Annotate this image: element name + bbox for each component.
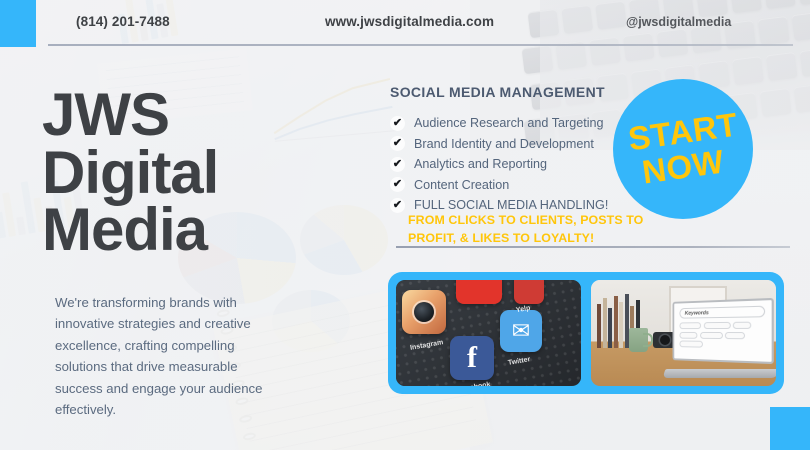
brand-title: JWS Digital Media [42, 86, 342, 259]
check-icon: ✔ [390, 177, 405, 192]
list-item: ✔ Analytics and Reporting [390, 154, 620, 175]
phone-number[interactable]: (814) 201-7488 [76, 14, 170, 29]
keyword-chips [679, 321, 765, 348]
laptop-base [663, 369, 776, 378]
check-icon: ✔ [390, 116, 405, 131]
header: (814) 201-7488 www.jwsdigitalmedia.com @… [0, 0, 810, 52]
corner-accent-bottom-right [770, 407, 810, 450]
list-item: ✔ Content Creation [390, 175, 620, 196]
youtube-icon [456, 280, 502, 304]
tagline: FROM CLICKS TO CLIENTS, POSTS TO PROFIT,… [408, 212, 658, 247]
yelp-icon [514, 280, 544, 304]
service-label: Brand Identity and Development [414, 137, 594, 151]
laptop-screen: Keywords [673, 298, 774, 364]
brand-line-1: JWS [42, 86, 342, 144]
brand-line-2: Digital [42, 144, 342, 202]
social-handle[interactable]: @jwsdigitalmedia [626, 15, 731, 29]
check-icon: ✔ [390, 136, 405, 151]
check-icon: ✔ [390, 157, 405, 172]
service-label: Content Creation [414, 178, 509, 192]
instagram-icon [402, 290, 446, 334]
flyer-canvas: (814) 201-7488 www.jwsdigitalmedia.com @… [0, 0, 810, 450]
search-label: Keywords [685, 310, 709, 316]
social-media-icons-photo: ✉ f Instagram Twitter Facebook Yelp [396, 280, 581, 386]
photo-panel: ✉ f Instagram Twitter Facebook Yelp Keyw… [388, 272, 784, 394]
list-item: ✔ Brand Identity and Development [390, 134, 620, 155]
service-label: Analytics and Reporting [414, 157, 547, 171]
coffee-mug [629, 328, 648, 352]
service-label: FULL SOCIAL MEDIA HANDLING! [414, 198, 608, 212]
list-item: ✔ Audience Research and Targeting [390, 113, 620, 134]
pie-chart-graphic-3 [272, 290, 350, 352]
brand-line-3: Media [42, 201, 342, 259]
services-checklist: ✔ Audience Research and Targeting ✔ Bran… [390, 113, 620, 216]
website-url[interactable]: www.jwsdigitalmedia.com [325, 14, 494, 29]
twitter-icon: ✉ [500, 310, 542, 352]
keyword-search-bar: Keywords [679, 306, 765, 319]
header-divider [48, 44, 793, 46]
tagline-divider [396, 246, 790, 248]
badge-line-2: NOW [640, 144, 726, 188]
check-icon: ✔ [390, 198, 405, 213]
service-label: Audience Research and Targeting [414, 116, 604, 130]
laptop-keyword-photo: Keywords [591, 280, 776, 386]
facebook-icon: f [450, 336, 494, 380]
company-description: We're transforming brands with innovativ… [55, 292, 277, 420]
services-heading: SOCIAL MEDIA MANAGEMENT [390, 84, 605, 100]
laptop: Keywords [656, 300, 772, 378]
start-now-badge[interactable]: START NOW [613, 79, 753, 219]
